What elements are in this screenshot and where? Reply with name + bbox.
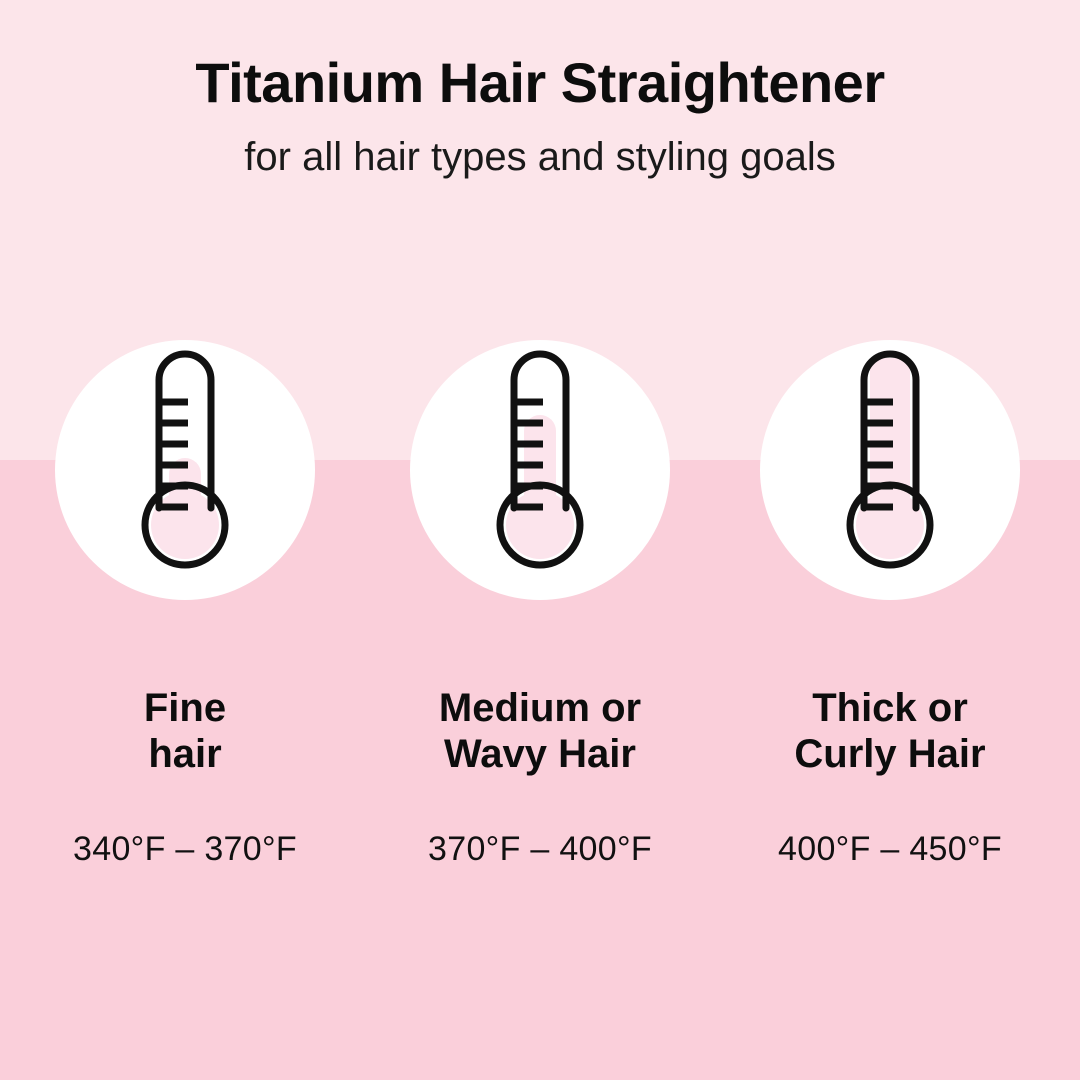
- header: Titanium Hair Straightener for all hair …: [0, 52, 1080, 181]
- thermometer-icon: [760, 340, 1020, 600]
- infographic-poster: Titanium Hair Straightener for all hair …: [0, 0, 1080, 1080]
- thermometer-icon: [410, 340, 670, 600]
- hair-type-label: Medium or Wavy Hair: [380, 686, 700, 777]
- page-title: Titanium Hair Straightener: [0, 52, 1080, 115]
- thermometer-icon: [55, 340, 315, 600]
- hair-type-label: Fine hair: [25, 686, 345, 777]
- temperature-range: 370°F – 400°F: [380, 830, 700, 869]
- page-subtitle: for all hair types and styling goals: [0, 133, 1080, 181]
- hair-type-label: Thick or Curly Hair: [730, 686, 1050, 777]
- temperature-range: 400°F – 450°F: [730, 830, 1050, 869]
- temperature-range: 340°F – 370°F: [25, 830, 345, 869]
